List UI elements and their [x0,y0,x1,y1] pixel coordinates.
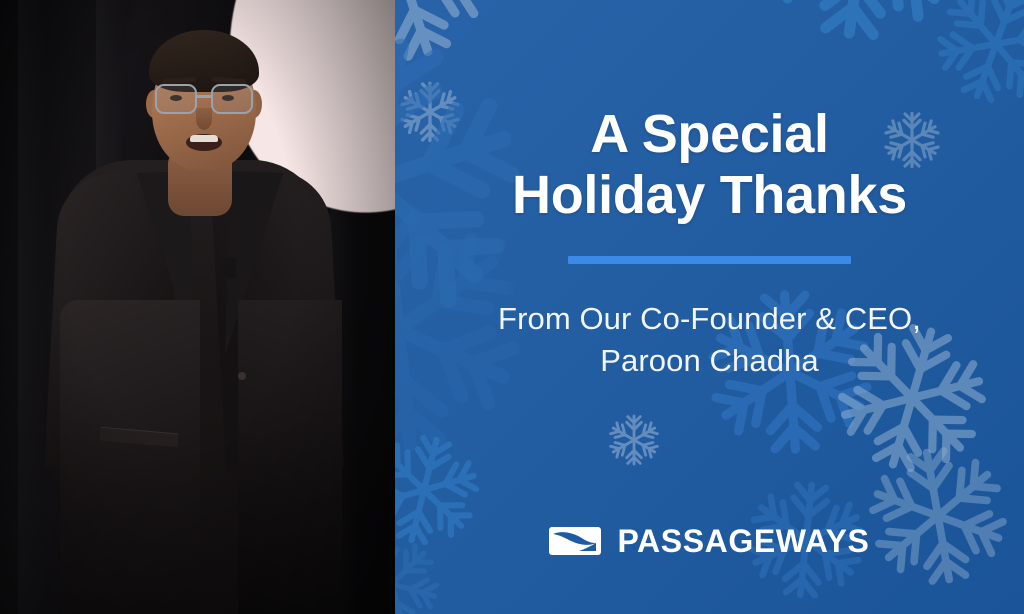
subtitle-line-2: Paroon Chadha [600,343,818,378]
holiday-thanks-banner: A Special Holiday Thanks From Our Co-Fou… [0,0,1024,614]
content-panel: A Special Holiday Thanks From Our Co-Fou… [395,0,1024,614]
headline-line-2: Holiday Thanks [512,165,907,225]
panel-content: A Special Holiday Thanks From Our Co-Fou… [395,0,1024,614]
subtitle-line-1: From Our Co-Founder & CEO, [498,301,921,336]
headline-line-1: A Special [590,104,828,164]
title-divider [568,256,851,264]
photo-vignette [0,0,395,614]
subtitle: From Our Co-Founder & CEO, Paroon Chadha [498,298,921,381]
speaker-photo [0,0,395,614]
page-title: A Special Holiday Thanks [512,104,907,226]
